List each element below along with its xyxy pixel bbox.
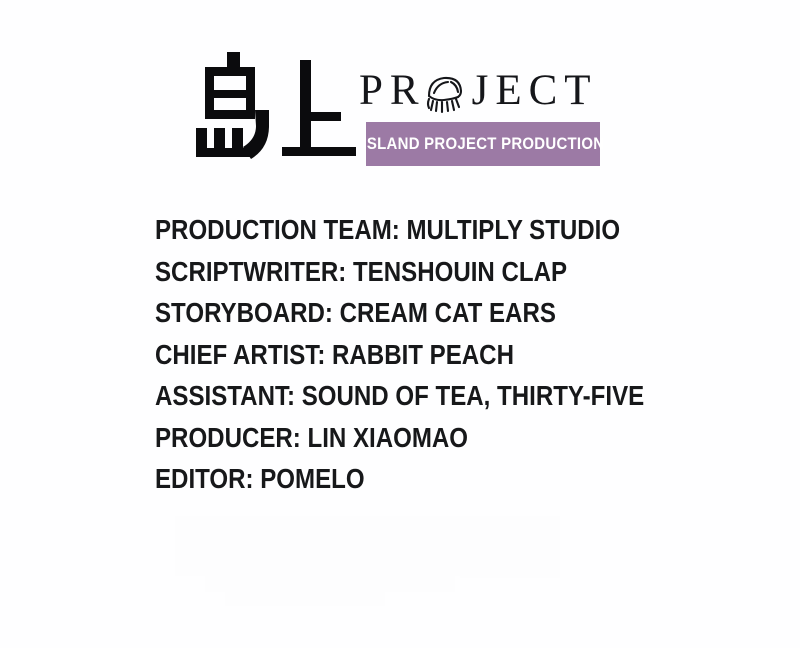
watermark-block <box>395 572 455 592</box>
logo-banner: ISLAND PROJECT PRODUCTION <box>366 122 600 166</box>
wordmark-suffix: JECT <box>472 69 598 112</box>
watermark-block <box>205 570 450 592</box>
watermark-block <box>175 516 560 576</box>
studio-logo: PR JECT ISLAND PROJECT PRODUCTION <box>196 52 606 172</box>
credits-page: PR JECT ISLAND PROJECT PRODUCTION PRODUC… <box>0 0 800 648</box>
wordmark-letters: PR JECT <box>359 69 598 112</box>
credits-list: PRODUCTION TEAM: MULTIPLY STUDIO SCRIPTW… <box>155 209 715 500</box>
watermark-block <box>225 588 385 606</box>
credit-line: STORYBOARD: CREAM CAT EARS <box>155 292 637 334</box>
wordmark-prefix: PR <box>359 69 426 112</box>
logo-banner-text: ISLAND PROJECT PRODUCTION <box>362 134 604 154</box>
logo-wordmark: PR JECT <box>359 62 607 118</box>
watermark-block <box>460 516 560 578</box>
credit-line: PRODUCTION TEAM: MULTIPLY STUDIO <box>155 209 637 251</box>
jellyfish-icon <box>425 72 465 114</box>
credit-line: CHIEF ARTIST: RABBIT PEACH <box>155 334 637 376</box>
credit-line: SCRIPTWRITER: TENSHOUIN CLAP <box>155 251 637 293</box>
logo-cjk-characters <box>196 52 356 164</box>
credit-line: PRODUCER: LIN XIAOMAO <box>155 417 637 459</box>
credit-line: ASSISTANT: SOUND OF TEA, THIRTY-FIVE <box>155 375 637 417</box>
credit-line: EDITOR: POMELO <box>155 458 637 500</box>
